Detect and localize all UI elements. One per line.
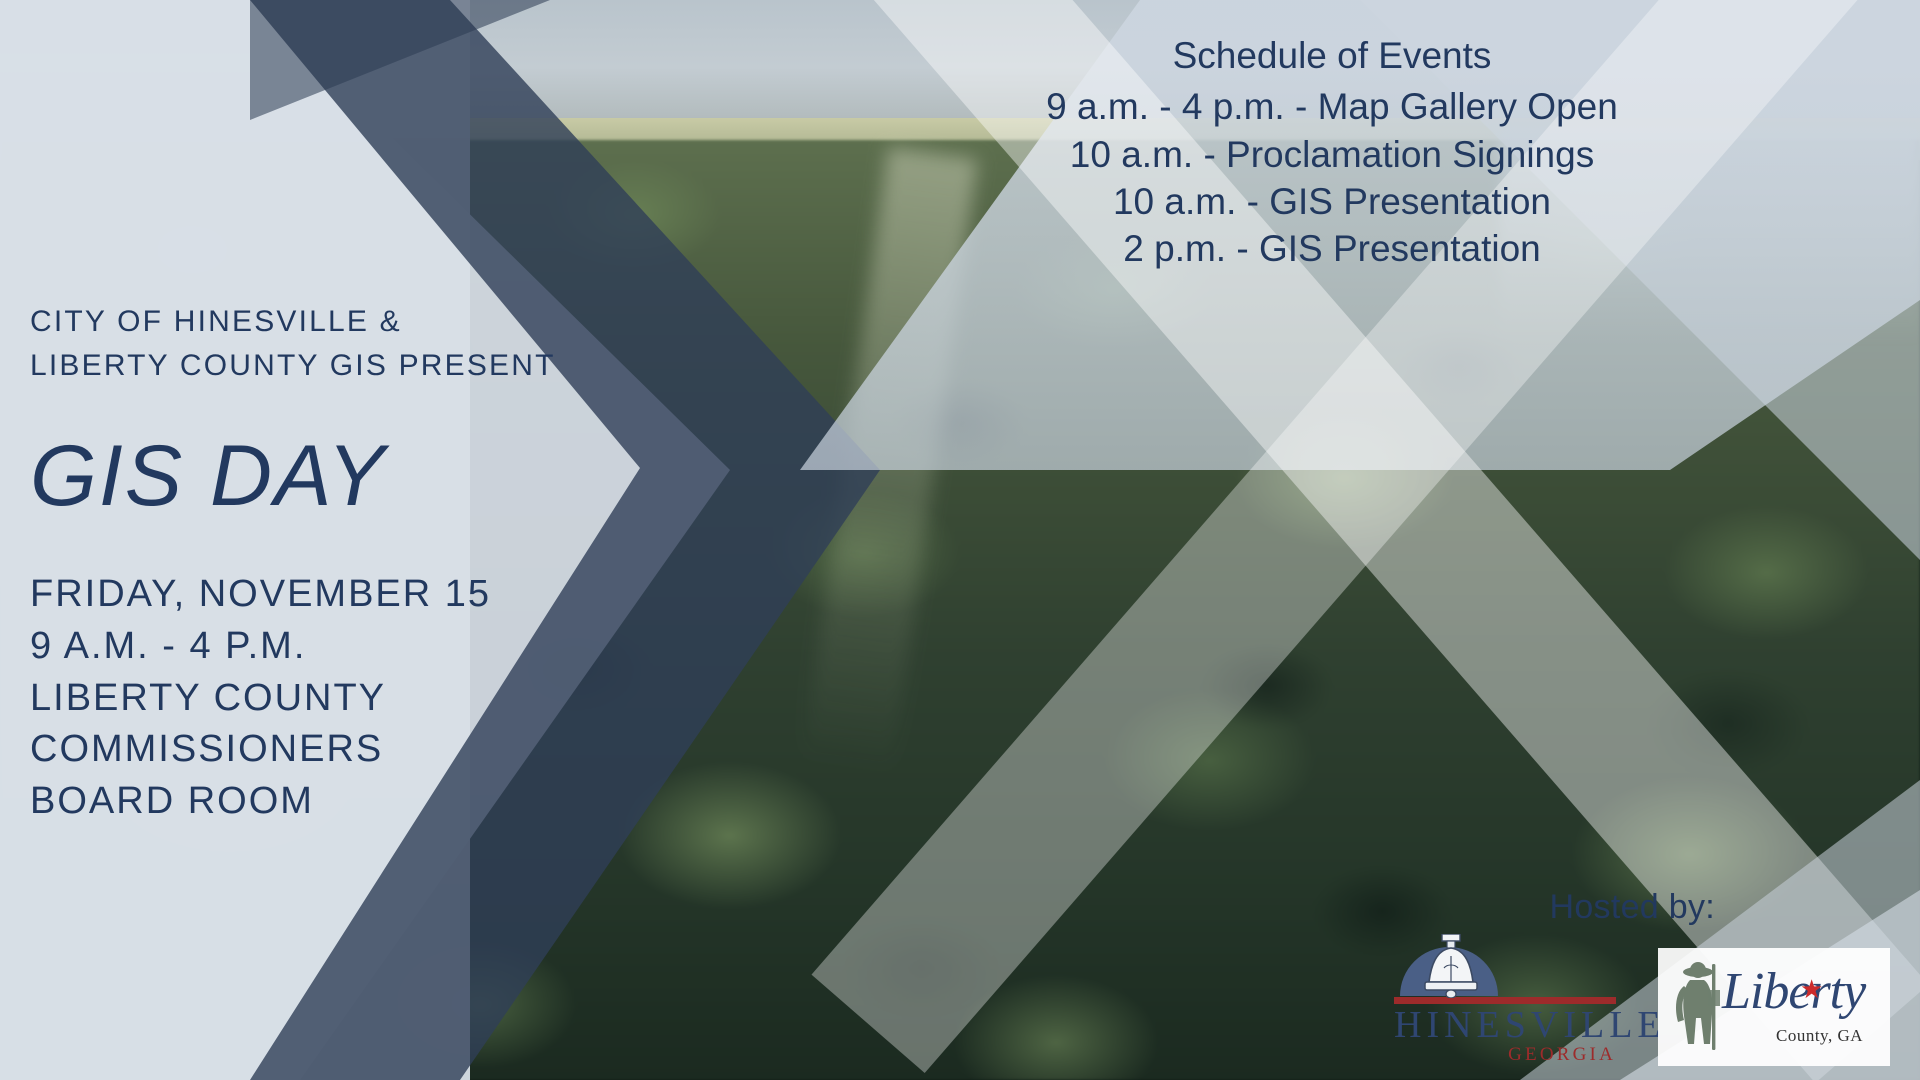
- hinesville-wordmark: HINESVILLE: [1394, 1006, 1616, 1046]
- schedule-item: 10 a.m. - Proclamation Signings: [932, 131, 1732, 178]
- event-time: 9 A.M. - 4 P.M.: [30, 621, 710, 673]
- presenter-heading: CITY OF HINESVILLE & LIBERTY COUNTY GIS …: [30, 300, 710, 387]
- venue-line-2: COMMISSIONERS: [30, 724, 710, 776]
- schedule-item: 9 a.m. - 4 p.m. - Map Gallery Open: [932, 83, 1732, 130]
- schedule-item: 2 p.m. - GIS Presentation: [932, 225, 1732, 272]
- schedule-title: Schedule of Events: [932, 32, 1732, 79]
- county-ga-subtext: County, GA: [1776, 1026, 1863, 1046]
- page-title: GIS DAY: [30, 431, 710, 521]
- hinesville-georgia-logo: HINESVILLE GEORGIA: [1394, 926, 1616, 1066]
- presenter-line-1: CITY OF HINESVILLE &: [30, 300, 710, 344]
- event-date: FRIDAY, NOVEMBER 15: [30, 569, 710, 621]
- presenter-line-2: LIBERTY COUNTY GIS PRESENT: [30, 344, 710, 388]
- host-logos: HINESVILLE GEORGIA Liberty ★ County, GA: [1394, 926, 1890, 1066]
- venue-line-1: LIBERTY COUNTY: [30, 673, 710, 725]
- liberty-county-logo: Liberty ★ County, GA: [1658, 948, 1890, 1066]
- liberty-bell-icon: [1394, 926, 1616, 996]
- schedule-of-events-block: Schedule of Events 9 a.m. - 4 p.m. - Map…: [932, 32, 1732, 273]
- red-star-icon: ★: [1800, 974, 1823, 1005]
- schedule-item: 10 a.m. - GIS Presentation: [932, 178, 1732, 225]
- bell-glyph: [1420, 934, 1482, 998]
- liberty-wordmark: Liberty: [1722, 962, 1865, 1021]
- event-details: FRIDAY, NOVEMBER 15 9 A.M. - 4 P.M. LIBE…: [30, 569, 710, 827]
- soldier-silhouette-icon: [1668, 956, 1730, 1060]
- hosted-by-label: Hosted by:: [1549, 888, 1715, 927]
- georgia-subtext: GEORGIA: [1394, 1044, 1616, 1066]
- venue-line-3: BOARD ROOM: [30, 776, 710, 828]
- red-accent-bar: [1394, 997, 1616, 1004]
- event-info-block: CITY OF HINESVILLE & LIBERTY COUNTY GIS …: [30, 300, 710, 828]
